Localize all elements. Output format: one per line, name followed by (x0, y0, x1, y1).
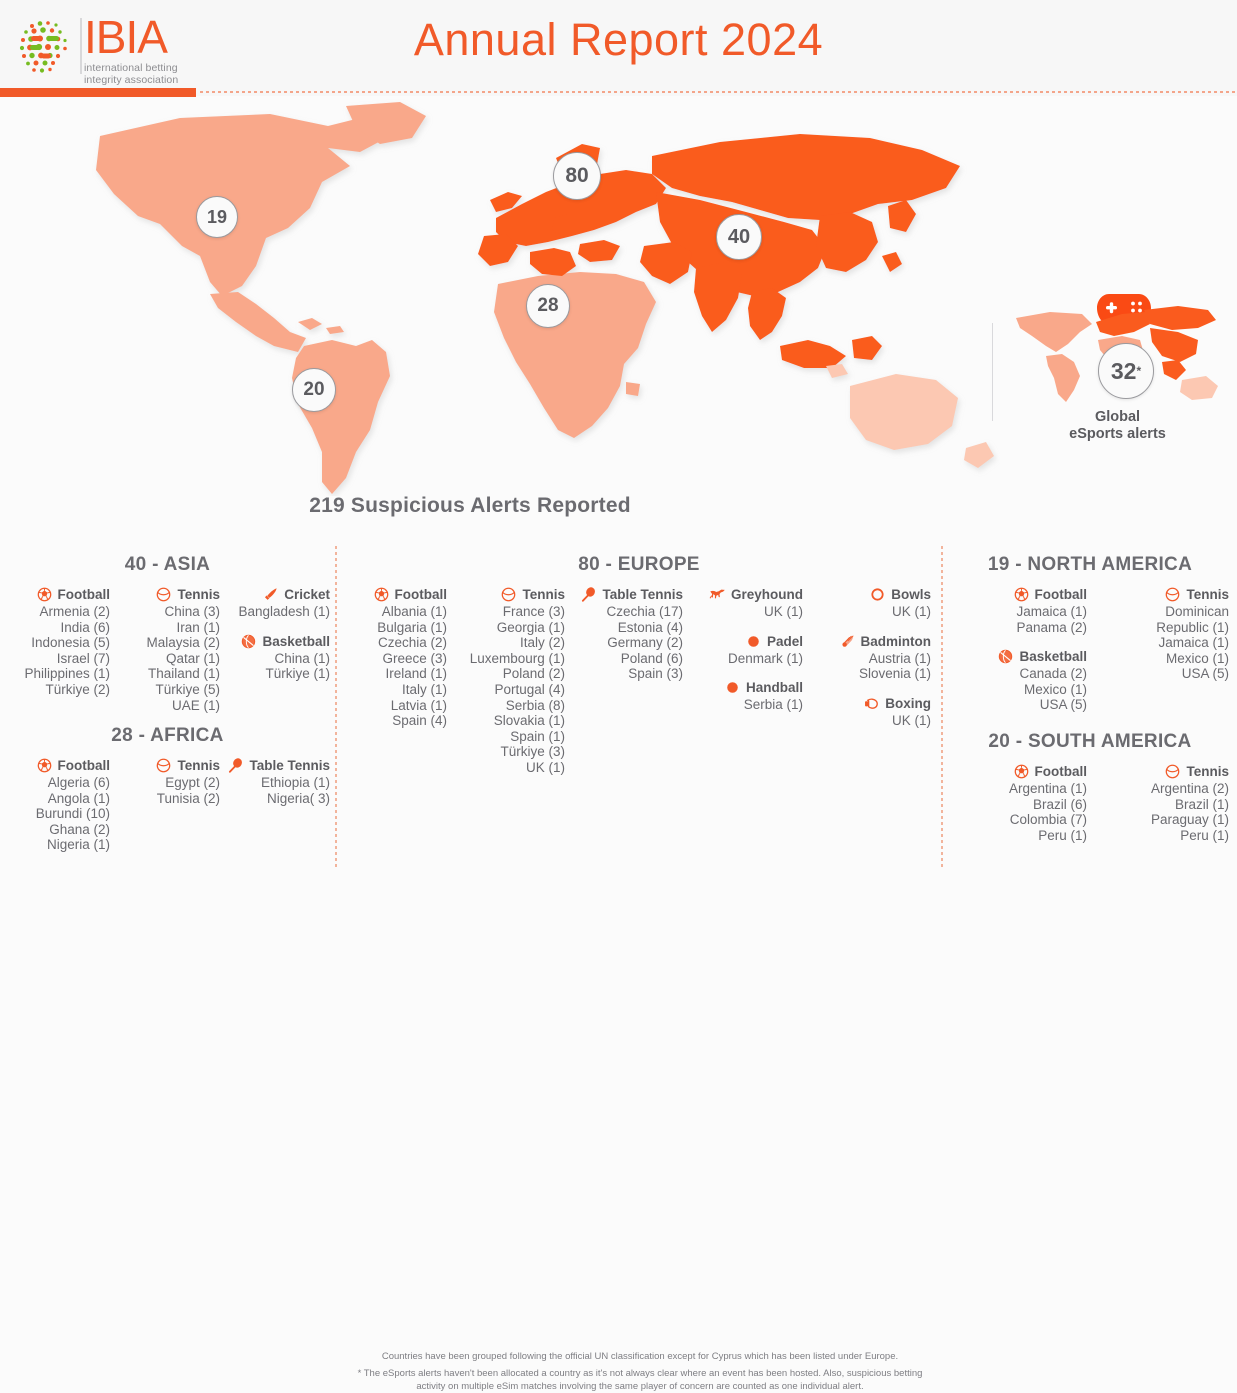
region-title-south-america: 20 - SOUTH AMERICA (943, 731, 1237, 753)
esports-divider (992, 323, 993, 421)
country-entry: Panama (2) (943, 620, 1087, 636)
sport-heading: Table Tennis (565, 586, 683, 603)
country-entry: Indonesia (5) (0, 635, 110, 651)
sport-heading: Football (0, 586, 110, 603)
sport-block-tennis: TennisArgentina (2)Brazil (1)Paraguay (1… (1087, 763, 1229, 843)
sport-heading: Tennis (110, 757, 220, 774)
map-bubble-africa[interactable]: 28 (526, 284, 570, 328)
country-entry: Ethiopia (1) (220, 775, 330, 791)
map-bubble-value: 40 (728, 226, 750, 249)
country-entry: Egypt (2) (110, 775, 220, 791)
country-entry: USA (5) (1087, 666, 1229, 682)
sport-column: FootballAlbania (1)Bulgaria (1)Czechia (… (337, 586, 447, 789)
country-entry: Ireland (1) (337, 666, 447, 682)
footnotes: Countries have been grouped following th… (345, 1350, 935, 1393)
country-entry: USA (5) (943, 697, 1087, 713)
sport-heading: Bowls (803, 586, 931, 603)
world-map-section: 19 80 40 28 20 219 Suspicious Alerts Rep… (0, 96, 1237, 542)
sport-column: GreyhoundUK (1)PadelDenmark (1)HandballS… (683, 586, 803, 789)
country-entry: Mexico (1) (943, 682, 1087, 698)
country-entry: Nigeria (1) (0, 837, 110, 853)
sport-columns: FootballArgentina (1)Brazil (6)Colombia … (943, 763, 1237, 856)
football-icon (1013, 586, 1030, 603)
country-entry: Slovenia (1) (803, 666, 931, 682)
map-bubble-north-america[interactable]: 19 (196, 196, 238, 238)
country-entry: China (3) (110, 604, 220, 620)
sport-block-basketball: BasketballCanada (2)Mexico (1)USA (5) (943, 648, 1087, 713)
sport-column: TennisEgypt (2)Tunisia (2) (110, 757, 220, 866)
esports-bubble[interactable]: 32* (1098, 343, 1154, 399)
sport-heading: Football (943, 763, 1087, 780)
logo-tagline-line2: integrity association (84, 74, 178, 86)
padel-icon (745, 633, 762, 650)
sport-column: FootballArmenia (2)India (6)Indonesia (5… (0, 586, 110, 726)
bowls-icon (869, 586, 886, 603)
country-entry: Jamaica (1) (943, 604, 1087, 620)
map-bubble-europe[interactable]: 80 (553, 152, 601, 200)
country-entry: Republic (1) (1087, 620, 1229, 636)
sport-heading: Handball (683, 679, 803, 696)
sport-heading: Football (337, 586, 447, 603)
footnote-line-1: Countries have been grouped following th… (345, 1350, 935, 1363)
region-asia: 40 - ASIA FootballArmenia (2)India (6)In… (0, 554, 335, 726)
sport-name: Boxing (885, 696, 931, 711)
country-entry: Nigeria( 3) (220, 791, 330, 807)
sport-columns: FootballAlgeria (6)Angola (1)Burundi (10… (0, 757, 335, 866)
sport-name: Football (1035, 587, 1088, 602)
country-entry: Poland (2) (447, 666, 565, 682)
sport-block-table-tennis: Table TennisEthiopia (1)Nigeria( 3) (220, 757, 330, 806)
sport-heading: Padel (683, 633, 803, 650)
sport-column: FootballJamaica (1)Panama (2) Basketball… (943, 586, 1087, 726)
sport-name: Cricket (284, 587, 330, 602)
sport-columns: FootballArmenia (2)India (6)Indonesia (5… (0, 586, 335, 726)
country-entry: Brazil (1) (1087, 797, 1229, 813)
country-entry: UK (1) (803, 713, 931, 729)
sport-name: Tennis (177, 758, 220, 773)
sport-block-football: FootballJamaica (1)Panama (2) (943, 586, 1087, 635)
country-entry: Israel (7) (0, 651, 110, 667)
page-title: Annual Report 2024 (0, 14, 1237, 66)
region-title-asia: 40 - ASIA (0, 554, 335, 576)
country-entry: Argentina (2) (1087, 781, 1229, 797)
country-entry: Türkiye (5) (110, 682, 220, 698)
country-entry: Poland (6) (565, 651, 683, 667)
sport-heading: Tennis (1087, 586, 1229, 603)
country-entry: Spain (1) (447, 729, 565, 745)
sport-name: Football (395, 587, 448, 602)
sport-block-tennis: TennisFrance (3)Georgia (1)Italy (2)Luxe… (447, 586, 565, 776)
region-title-north-america: 19 - NORTH AMERICA (943, 554, 1237, 576)
country-entry: Spain (3) (565, 666, 683, 682)
country-entry: Italy (1) (337, 682, 447, 698)
country-entry: Armenia (2) (0, 604, 110, 620)
sport-block-table-tennis: Table TennisCzechia (17)Estonia (4)Germa… (565, 586, 683, 682)
region-africa: 28 - AFRICA FootballAlgeria (6)Angola (1… (0, 725, 335, 866)
football-icon (36, 586, 53, 603)
country-entry: Paraguay (1) (1087, 812, 1229, 828)
country-entry: Serbia (8) (447, 698, 565, 714)
sport-name: Football (58, 758, 111, 773)
map-bubble-value: 80 (565, 164, 588, 188)
sport-block-bowls: BowlsUK (1) (803, 586, 931, 620)
sport-block-boxing: BoxingUK (1) (803, 695, 931, 729)
sport-column: Table TennisEthiopia (1)Nigeria( 3) (220, 757, 330, 866)
sport-block-handball: HandballSerbia (1) (683, 679, 803, 713)
alerts-caption: 219 Suspicious Alerts Reported (0, 494, 940, 518)
sport-block-badminton: BadmintonAustria (1)Slovenia (1) (803, 633, 931, 682)
sport-name: Table Tennis (602, 587, 683, 602)
sport-column: TennisFrance (3)Georgia (1)Italy (2)Luxe… (447, 586, 565, 789)
sport-name: Basketball (262, 634, 330, 649)
tennis-icon (155, 586, 172, 603)
sport-name: Padel (767, 634, 803, 649)
sport-column: BowlsUK (1) BadmintonAustria (1)Slovenia… (803, 586, 931, 789)
country-entry: Italy (2) (447, 635, 565, 651)
sport-columns: FootballAlbania (1)Bulgaria (1)Czechia (… (337, 586, 941, 789)
sport-block-football: FootballArgentina (1)Brazil (6)Colombia … (943, 763, 1087, 843)
country-entry: Peru (1) (943, 828, 1087, 844)
sport-name: Handball (746, 680, 803, 695)
country-entry: Tunisia (2) (110, 791, 220, 807)
header-dotted-rule (200, 91, 1237, 93)
sport-name: Basketball (1019, 649, 1087, 664)
regions-section: 40 - ASIA FootballArmenia (2)India (6)In… (0, 542, 1237, 874)
country-entry: Serbia (1) (683, 697, 803, 713)
esports-label: Global eSports alerts (1010, 409, 1225, 443)
sport-block-tennis: TennisDominicanRepublic (1)Jamaica (1)Me… (1087, 586, 1229, 682)
sport-heading: Football (0, 757, 110, 774)
sport-block-greyhound: GreyhoundUK (1) (683, 586, 803, 620)
sport-column: TennisDominicanRepublic (1)Jamaica (1)Me… (1087, 586, 1229, 726)
map-bubble-value: 28 (537, 295, 558, 317)
sport-block-basketball: BasketballChina (1)Türkiye (1) (220, 633, 330, 682)
sport-heading: Tennis (1087, 763, 1229, 780)
country-entry: Bulgaria (1) (337, 620, 447, 636)
country-entry: Luxembourg (1) (447, 651, 565, 667)
sport-block-tennis: TennisChina (3)Iran (1)Malaysia (2)Qatar… (110, 586, 220, 713)
esports-panel: 32* Global eSports alerts (1010, 196, 1225, 456)
esports-label-line1: Global (1010, 409, 1225, 426)
country-entry: Greece (3) (337, 651, 447, 667)
region-north-america: 19 - NORTH AMERICA FootballJamaica (1)Pa… (943, 554, 1237, 726)
country-entry: Albania (1) (337, 604, 447, 620)
country-entry: Estonia (4) (565, 620, 683, 636)
country-entry: Portugal (4) (447, 682, 565, 698)
map-bubble-asia[interactable]: 40 (716, 214, 762, 260)
football-icon (373, 586, 390, 603)
sport-block-football: FootballArmenia (2)India (6)Indonesia (5… (0, 586, 110, 698)
table-tennis-icon (227, 757, 244, 774)
tennis-icon (1164, 763, 1181, 780)
map-bubble-south-america[interactable]: 20 (292, 368, 336, 412)
country-entry: Türkiye (2) (0, 682, 110, 698)
country-entry: Denmark (1) (683, 651, 803, 667)
country-entry: Qatar (1) (110, 651, 220, 667)
handball-icon (724, 679, 741, 696)
country-entry: UK (1) (803, 604, 931, 620)
sport-name: Tennis (177, 587, 220, 602)
country-entry: Burundi (10) (0, 806, 110, 822)
sport-column: FootballArgentina (1)Brazil (6)Colombia … (943, 763, 1087, 856)
country-entry: France (3) (447, 604, 565, 620)
sport-column: FootballAlgeria (6)Angola (1)Burundi (10… (0, 757, 110, 866)
cricket-icon (262, 586, 279, 603)
country-entry: Georgia (1) (447, 620, 565, 636)
football-icon (36, 757, 53, 774)
country-entry: Czechia (2) (337, 635, 447, 651)
sport-name: Football (58, 587, 111, 602)
sport-name: Greyhound (731, 587, 803, 602)
greyhound-icon (709, 586, 726, 603)
sport-column: Table TennisCzechia (17)Estonia (4)Germa… (565, 586, 683, 789)
sport-name: Tennis (1186, 764, 1229, 779)
country-entry: Mexico (1) (1087, 651, 1229, 667)
sport-heading: Boxing (803, 695, 931, 712)
country-entry: Malaysia (2) (110, 635, 220, 651)
country-entry: Brazil (6) (943, 797, 1087, 813)
basketball-icon (240, 633, 257, 650)
country-entry: Türkiye (3) (447, 744, 565, 760)
tennis-icon (155, 757, 172, 774)
country-entry: Dominican (1087, 604, 1229, 620)
tennis-icon (1164, 586, 1181, 603)
sport-name: Football (1035, 764, 1088, 779)
country-entry: UK (1) (683, 604, 803, 620)
country-entry: Ghana (2) (0, 822, 110, 838)
sport-name: Badminton (861, 634, 932, 649)
esports-value: 32 (1111, 358, 1137, 385)
sport-heading: Table Tennis (220, 757, 330, 774)
country-entry: Angola (1) (0, 791, 110, 807)
country-entry: Canada (2) (943, 666, 1087, 682)
country-entry: Thailand (1) (110, 666, 220, 682)
basketball-icon (997, 648, 1014, 665)
footnote-line-2: * The eSports alerts haven't been alloca… (345, 1367, 935, 1393)
esports-label-line2: eSports alerts (1010, 426, 1225, 443)
sport-block-cricket: CricketBangladesh (1) (220, 586, 330, 620)
map-bubble-value: 20 (303, 379, 324, 401)
country-entry: India (6) (0, 620, 110, 636)
country-entry: China (1) (220, 651, 330, 667)
sport-columns: FootballJamaica (1)Panama (2) Basketball… (943, 586, 1237, 726)
sport-name: Bowls (891, 587, 931, 602)
country-entry: Colombia (7) (943, 812, 1087, 828)
map-bubble-value: 19 (207, 207, 227, 228)
region-title-europe: 80 - EUROPE (337, 554, 941, 576)
region-europe: 80 - EUROPE FootballAlbania (1)Bulgaria … (337, 554, 941, 789)
sport-name: Tennis (522, 587, 565, 602)
esports-asterisk: * (1136, 364, 1141, 378)
region-title-africa: 28 - AFRICA (0, 725, 335, 747)
country-entry: Bangladesh (1) (220, 604, 330, 620)
sport-heading: Tennis (447, 586, 565, 603)
sport-block-football: FootballAlbania (1)Bulgaria (1)Czechia (… (337, 586, 447, 729)
football-icon (1013, 763, 1030, 780)
sport-heading: Basketball (220, 633, 330, 650)
country-entry: Türkiye (1) (220, 666, 330, 682)
country-entry: Philippines (1) (0, 666, 110, 682)
sport-block-padel: PadelDenmark (1) (683, 633, 803, 667)
sport-heading: Greyhound (683, 586, 803, 603)
country-entry: Germany (2) (565, 635, 683, 651)
region-south-america: 20 - SOUTH AMERICA FootballArgentina (1)… (943, 731, 1237, 856)
sport-column: TennisChina (3)Iran (1)Malaysia (2)Qatar… (110, 586, 220, 726)
sport-name: Tennis (1186, 587, 1229, 602)
boxing-icon (863, 695, 880, 712)
sport-block-football: FootballAlgeria (6)Angola (1)Burundi (10… (0, 757, 110, 853)
country-entry: Peru (1) (1087, 828, 1229, 844)
sport-heading: Football (943, 586, 1087, 603)
sport-heading: Badminton (803, 633, 931, 650)
country-entry: Czechia (17) (565, 604, 683, 620)
country-entry: Algeria (6) (0, 775, 110, 791)
sport-heading: Cricket (220, 586, 330, 603)
country-entry: Latvia (1) (337, 698, 447, 714)
badminton-icon (839, 633, 856, 650)
sport-heading: Tennis (110, 586, 220, 603)
country-entry: Iran (1) (110, 620, 220, 636)
country-entry: UAE (1) (110, 698, 220, 714)
country-entry: Slovakia (1) (447, 713, 565, 729)
country-entry: UK (1) (447, 760, 565, 776)
sport-name: Table Tennis (249, 758, 330, 773)
sport-block-tennis: TennisEgypt (2)Tunisia (2) (110, 757, 220, 806)
country-entry: Spain (4) (337, 713, 447, 729)
table-tennis-icon (580, 586, 597, 603)
country-entry: Jamaica (1) (1087, 635, 1229, 651)
sport-column: TennisArgentina (2)Brazil (1)Paraguay (1… (1087, 763, 1229, 856)
country-entry: Austria (1) (803, 651, 931, 667)
sport-column: CricketBangladesh (1) BasketballChina (1… (220, 586, 330, 726)
page-header: IBIA international betting integrity ass… (0, 0, 1237, 96)
sport-heading: Basketball (943, 648, 1087, 665)
tennis-icon (500, 586, 517, 603)
country-entry: Argentina (1) (943, 781, 1087, 797)
